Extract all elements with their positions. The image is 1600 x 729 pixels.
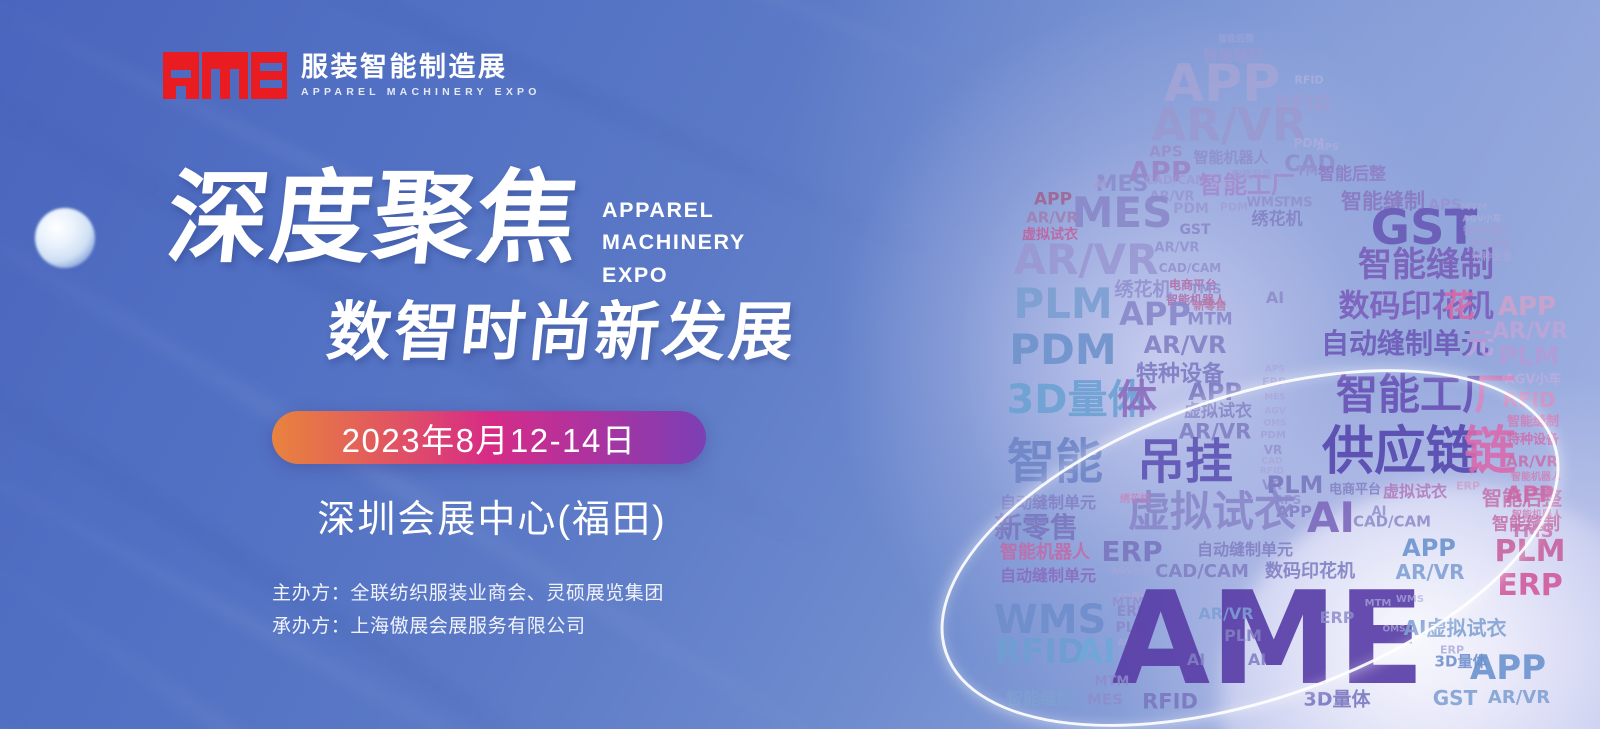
word-cloud-term: 智能机器人 (1511, 473, 1561, 483)
word-cloud-term: PDM (1220, 202, 1248, 213)
word-cloud-term: 智能缝制 (1507, 416, 1559, 429)
word-cloud-term: APP (1470, 651, 1546, 685)
event-date-text: 2023年8月12-14日 (342, 414, 637, 462)
word-cloud-term: WMS (1396, 595, 1424, 605)
word-cloud-term: 虚拟试衣 (1383, 484, 1447, 500)
word-cloud-term: AR/VR (1492, 321, 1568, 343)
word-cloud-term: TMS (1281, 197, 1312, 210)
word-cloud-term: 体 (1117, 380, 1157, 420)
word-cloud-term: AR/VR (1151, 103, 1306, 148)
word-cloud-term: AR/VR (1506, 455, 1558, 470)
word-cloud-term: 智能 (1007, 438, 1103, 486)
word-cloud-term: 智能后整 (1318, 167, 1386, 184)
word-cloud-term: 花 (1444, 292, 1475, 323)
word-cloud-term: 自动缝制单元 (1197, 542, 1293, 558)
word-cloud-term: 元 (1466, 330, 1494, 358)
word-cloud-term: OMS (1263, 420, 1286, 429)
word-cloud-term: PLM (1224, 628, 1262, 644)
word-cloud-term: WMS (1247, 197, 1284, 210)
word-cloud-term: AR/VR (1488, 689, 1550, 707)
word-cloud-term: CAD (1261, 458, 1282, 467)
word-cloud-term: 智能机器人 (1463, 227, 1513, 237)
word-cloud-term: PDM (1173, 202, 1209, 216)
word-cloud-term: PLM (1013, 283, 1112, 325)
ame-logo-mark-icon (163, 52, 287, 99)
word-cloud-term: AME (1111, 576, 1425, 704)
word-cloud-term: AR/VR (1198, 606, 1253, 622)
word-cloud-term: APP (1119, 298, 1191, 330)
brand-logo: 服装智能制造展 APPAREL MACHINERY EXPO (163, 52, 541, 99)
promo-banner: 服装智能制造展 APPAREL MACHINERY EXPO 深度聚焦 APPA… (0, 0, 1600, 729)
organizer-line-operator: 承办方：上海傲展会展服务有限公司 (272, 611, 664, 644)
word-cloud-term: PLM (1498, 344, 1560, 370)
word-cloud-term: AGV小车 (1462, 216, 1501, 225)
word-cloud-term: AI (1307, 497, 1355, 539)
word-cloud-term: 新零售 (994, 514, 1078, 542)
word-cloud-term: 智能后整 (1482, 488, 1562, 508)
word-cloud-term: ERP (1456, 481, 1480, 492)
word-cloud-term: APP (1402, 536, 1456, 560)
word-cloud-term: APS (1317, 143, 1339, 153)
word-cloud-term: 智能后整 (1218, 36, 1254, 45)
logo-letter-m (202, 52, 248, 99)
headline-subtitle: 数智时尚新发展 (323, 281, 873, 373)
brand-logo-text: 服装智能制造展 APPAREL MACHINERY EXPO (301, 53, 541, 99)
word-cloud-term: OMS (1382, 626, 1405, 635)
word-cloud-term: 特种设备 (1507, 434, 1559, 447)
word-cloud-term: GST (1433, 688, 1477, 708)
word-cloud-term: MTM (1095, 676, 1130, 689)
word-cloud-term: 智能后整 (1470, 240, 1510, 250)
word-cloud-term: RFID (995, 635, 1085, 669)
headline-main: 深度聚焦 (163, 170, 585, 268)
word-cloud-term: MES (1264, 394, 1286, 403)
word-cloud-term: 虚拟试衣 (1184, 404, 1252, 421)
word-cloud-term: AI (1077, 635, 1116, 669)
organizer-line-host: 主办方：全联纺织服装业商会、灵硕展览集团 (272, 578, 664, 611)
word-cloud-term: APS (1265, 366, 1285, 375)
word-cloud-term: 智能缝制 (1492, 517, 1560, 534)
word-cloud-term: 特种设备 (1472, 253, 1512, 263)
word-cloud-term: RFID (1142, 692, 1198, 713)
word-cloud-term: AGV (1264, 408, 1285, 417)
word-cloud-words: 智能后整智能缝制APPRFIDRFIDAR/VRPDMCAD智能机器人APSAP… (900, 0, 1600, 729)
event-venue: 深圳会展中心(福田) (272, 488, 712, 543)
word-cloud-term: 绣花机 (1120, 495, 1150, 505)
word-cloud-term: 自动缝制单元 (1321, 330, 1489, 358)
word-cloud-term: 自动缝制单元 (1000, 495, 1096, 511)
logo-letter-e (251, 52, 287, 99)
word-cloud-term: AR/VR (1144, 333, 1227, 357)
word-cloud-term: APP (1188, 380, 1242, 404)
word-cloud-term: AI (1248, 652, 1266, 668)
word-cloud-term: TMS (1190, 284, 1221, 297)
word-cloud-term: AI (1187, 652, 1205, 668)
word-cloud-term: RFID (1294, 75, 1323, 86)
word-cloud-term: 智能缝制 (1006, 692, 1074, 709)
headline-block: 深度聚焦 APPAREL MACHINERY EXPO 数智时尚新发展 (168, 170, 868, 373)
word-cloud-term: AI虚拟试衣 (1404, 618, 1507, 638)
word-cloud-term: VR (1264, 444, 1283, 456)
word-cloud-term: PDM (1009, 329, 1116, 371)
word-cloud-term: ERP (1440, 645, 1464, 656)
word-cloud-term: 3D量体 (1304, 691, 1371, 710)
event-date-badge: 2023年8月12-14日 (272, 411, 706, 464)
word-cloud-term: ERP (1262, 377, 1286, 388)
word-cloud-term: 绣花机 (1252, 212, 1303, 229)
word-cloud-term: RFID (1502, 390, 1555, 410)
logo-letter-a (163, 52, 199, 99)
word-cloud-graphic: 智能后整智能缝制APPRFIDRFIDAR/VRPDMCAD智能机器人APSAP… (900, 0, 1600, 729)
word-cloud-term: 供应链 (1322, 426, 1478, 478)
word-cloud-term: PDM (1260, 431, 1286, 441)
word-cloud-term: CAD/CAM (1145, 174, 1207, 186)
word-cloud-term: OMS (1210, 183, 1233, 192)
word-cloud-term: CAD/CAM (1353, 515, 1431, 530)
word-cloud-term: APP (1034, 192, 1072, 209)
left-content: 服装智能制造展 APPAREL MACHINERY EXPO 深度聚焦 APPA… (0, 0, 900, 729)
word-cloud-term: 自动缝制单元 (1000, 568, 1096, 584)
headline-en-line-1: APPAREL (602, 194, 746, 226)
word-cloud-term: 吊挂 (1137, 438, 1233, 486)
word-cloud-term: 智能机器人 (1000, 544, 1090, 562)
word-cloud-term: GST (1179, 223, 1210, 237)
word-cloud-term: ERP (1320, 610, 1355, 626)
word-cloud-term: AI (1266, 290, 1284, 306)
word-cloud-term: AR/VR (1155, 242, 1200, 255)
word-cloud-term: AR/VR (1026, 211, 1078, 226)
organizer-info: 主办方：全联纺织服装业商会、灵硕展览集团 承办方：上海傲展会展服务有限公司 (272, 578, 664, 643)
word-cloud-term: ERP (1497, 571, 1563, 601)
word-cloud-term: 虚拟试衣 (1022, 228, 1078, 242)
word-cloud-term: PLM (1495, 537, 1566, 567)
word-cloud-term: MTM (1365, 599, 1392, 609)
word-cloud-term: CAD/CAM (1159, 262, 1221, 274)
word-cloud-term: ERP (1101, 538, 1162, 566)
headline-en-line-2: MACHINERY (602, 226, 746, 258)
word-cloud-term: 智能吊挂 (1232, 171, 1272, 181)
word-cloud-term: MTM (1461, 203, 1488, 213)
word-cloud-term: MES (1087, 693, 1123, 708)
headline-english: APPAREL MACHINERY EXPO (602, 194, 746, 291)
word-cloud-term: AR/VR (1013, 239, 1158, 281)
word-cloud-term: APP (1498, 294, 1556, 320)
word-cloud-term: MES (1072, 192, 1173, 234)
word-cloud-term: 智能机器人 (1193, 151, 1268, 166)
brand-name-cn: 服装智能制造展 (301, 53, 541, 81)
word-cloud-term: MTM (1187, 312, 1232, 329)
brand-name-en: APPAREL MACHINERY EXPO (301, 86, 541, 98)
